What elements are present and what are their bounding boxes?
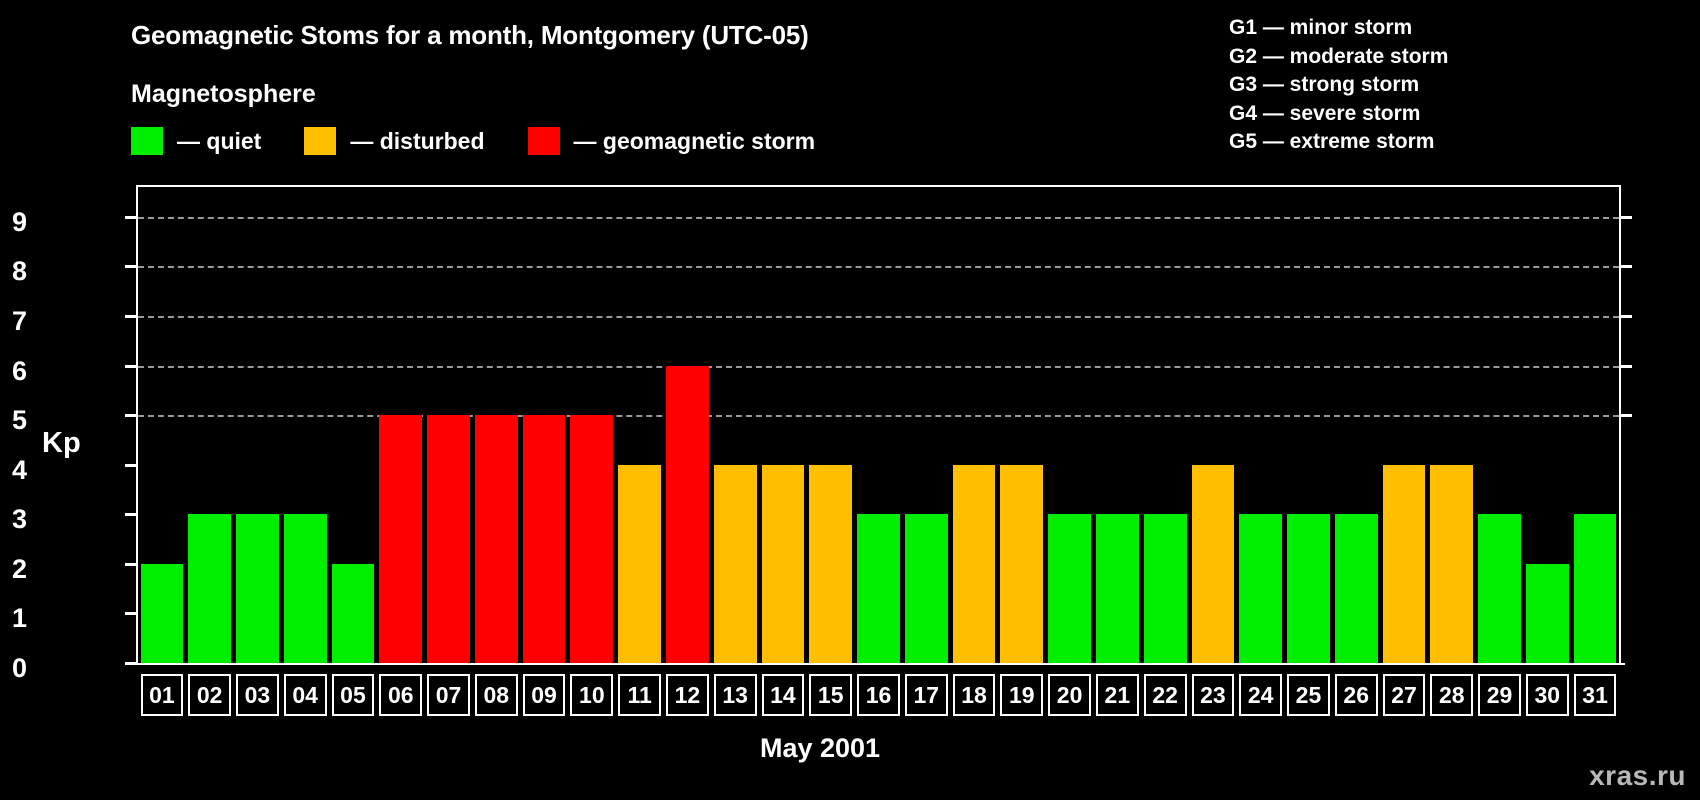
bar-day-13[interactable]: [714, 465, 757, 663]
bar-day-31[interactable]: [1574, 514, 1617, 663]
y-axis-label: Kp: [42, 427, 81, 460]
bar-slot: [1096, 187, 1139, 663]
chart-page: Geomagnetic Stoms for a month, Montgomer…: [0, 0, 1700, 800]
day-label-04: 04: [284, 674, 327, 716]
bar-slot: [1192, 187, 1235, 663]
bar-slot: [809, 187, 852, 663]
g-legend-line-4: G4 — severe storm: [1229, 100, 1448, 129]
day-label-28: 28: [1430, 674, 1473, 716]
bar-slot: [1335, 187, 1378, 663]
day-label-14: 14: [762, 674, 805, 716]
day-label-15: 15: [809, 674, 852, 716]
y-tick-1: [125, 612, 138, 615]
y-tick-label-7: 7: [0, 306, 27, 337]
day-label-21: 21: [1096, 674, 1139, 716]
bar-slot: [1239, 187, 1282, 663]
bar-slot: [1383, 187, 1426, 663]
right-tick-G1: [1619, 414, 1632, 417]
legend-item-storm: — geomagnetic storm: [528, 127, 816, 155]
day-label-31: 31: [1574, 674, 1617, 716]
day-label-16: 16: [857, 674, 900, 716]
day-label-07: 07: [427, 674, 470, 716]
bar-day-19[interactable]: [1000, 465, 1043, 663]
bar-slot: [1478, 187, 1521, 663]
bar-day-27[interactable]: [1383, 465, 1426, 663]
bar-slot: [953, 187, 996, 663]
y-tick-9: [125, 216, 138, 219]
legend-swatch-quiet: [131, 127, 163, 155]
y-tick-label-5: 5: [0, 405, 27, 436]
bar-slot: [1000, 187, 1043, 663]
day-label-22: 22: [1144, 674, 1187, 716]
day-labels-row: 0102030405060708091011121314151617181920…: [138, 674, 1619, 716]
bar-day-01[interactable]: [141, 564, 184, 663]
bar-day-23[interactable]: [1192, 465, 1235, 663]
g-legend-line-1: G1 — minor storm: [1229, 14, 1448, 43]
bar-day-16[interactable]: [857, 514, 900, 663]
day-label-05: 05: [332, 674, 375, 716]
day-label-02: 02: [188, 674, 231, 716]
bar-slot: [236, 187, 279, 663]
x-axis-line: [136, 663, 1625, 665]
bar-day-07[interactable]: [427, 415, 470, 663]
y-tick-2: [125, 563, 138, 566]
day-label-18: 18: [953, 674, 996, 716]
day-label-08: 08: [475, 674, 518, 716]
bar-slot: [523, 187, 566, 663]
day-label-12: 12: [666, 674, 709, 716]
bar-slot: [618, 187, 661, 663]
right-tick-G3: [1619, 315, 1632, 318]
bar-slot: [905, 187, 948, 663]
bar-day-24[interactable]: [1239, 514, 1282, 663]
day-label-30: 30: [1526, 674, 1569, 716]
watermark: xras.ru: [1589, 760, 1686, 792]
bar-slot: [570, 187, 613, 663]
day-label-20: 20: [1048, 674, 1091, 716]
day-label-11: 11: [618, 674, 661, 716]
day-label-09: 09: [523, 674, 566, 716]
bar-day-02[interactable]: [188, 514, 231, 663]
bar-day-28[interactable]: [1430, 465, 1473, 663]
bar-slot: [379, 187, 422, 663]
bar-day-20[interactable]: [1048, 514, 1091, 663]
day-label-29: 29: [1478, 674, 1521, 716]
bar-day-08[interactable]: [475, 415, 518, 663]
bar-slot: [284, 187, 327, 663]
y-tick-6: [125, 365, 138, 368]
bar-day-15[interactable]: [809, 465, 852, 663]
x-axis-label: May 2001: [0, 733, 1700, 764]
bar-slot: [666, 187, 709, 663]
y-tick-label-6: 6: [0, 356, 27, 387]
day-label-13: 13: [714, 674, 757, 716]
bar-slot: [714, 187, 757, 663]
bar-day-04[interactable]: [284, 514, 327, 663]
legend-swatch-storm: [528, 127, 560, 155]
y-tick-5: [125, 414, 138, 417]
g-legend-line-2: G2 — moderate storm: [1229, 43, 1448, 72]
bar-slot: [857, 187, 900, 663]
bar-slot: [762, 187, 805, 663]
page-title: Geomagnetic Stoms for a month, Montgomer…: [131, 20, 809, 51]
bar-day-11[interactable]: [618, 465, 661, 663]
day-label-10: 10: [570, 674, 613, 716]
magnetosphere-legend: — quiet — disturbed — geomagnetic storm: [131, 127, 815, 155]
day-label-03: 03: [236, 674, 279, 716]
bar-slot: [475, 187, 518, 663]
bar-day-25[interactable]: [1287, 514, 1330, 663]
day-label-19: 19: [1000, 674, 1043, 716]
bar-day-18[interactable]: [953, 465, 996, 663]
g-legend-line-5: G5 — extreme storm: [1229, 128, 1448, 157]
day-label-23: 23: [1192, 674, 1235, 716]
day-label-27: 27: [1383, 674, 1426, 716]
bar-day-06[interactable]: [379, 415, 422, 663]
bar-day-26[interactable]: [1335, 514, 1378, 663]
bar-slot: [1287, 187, 1330, 663]
bar-day-30[interactable]: [1526, 564, 1569, 663]
day-label-26: 26: [1335, 674, 1378, 716]
bar-day-05[interactable]: [332, 564, 375, 663]
y-tick-7: [125, 315, 138, 318]
y-tick-8: [125, 265, 138, 268]
bar-slot: [1048, 187, 1091, 663]
y-tick-label-4: 4: [0, 455, 27, 486]
y-tick-label-2: 2: [0, 554, 27, 585]
bar-day-10[interactable]: [570, 415, 613, 663]
bar-slot: [1574, 187, 1617, 663]
x-axis-label-text: May 2001: [760, 733, 880, 764]
g-legend-line-3: G3 — strong storm: [1229, 71, 1448, 100]
bar-slot: [427, 187, 470, 663]
day-label-01: 01: [141, 674, 184, 716]
bar-day-29[interactable]: [1478, 514, 1521, 663]
y-tick-3: [125, 513, 138, 516]
day-label-06: 06: [379, 674, 422, 716]
right-tick-G2: [1619, 365, 1632, 368]
y-tick-label-0: 0: [0, 653, 27, 684]
bar-day-17[interactable]: [905, 514, 948, 663]
legend-label-disturbed: — disturbed: [350, 128, 484, 155]
bars-layer: [138, 187, 1619, 663]
legend-item-disturbed: — disturbed: [304, 127, 527, 155]
bar-slot: [332, 187, 375, 663]
bar-slot: [188, 187, 231, 663]
y-tick-label-1: 1: [0, 603, 27, 634]
right-tick-G5: [1619, 216, 1632, 219]
day-label-25: 25: [1287, 674, 1330, 716]
bar-day-14[interactable]: [762, 465, 805, 663]
bar-day-21[interactable]: [1096, 514, 1139, 663]
day-label-24: 24: [1239, 674, 1282, 716]
bar-slot: [1526, 187, 1569, 663]
y-tick-label-3: 3: [0, 504, 27, 535]
right-tick-G4: [1619, 265, 1632, 268]
bar-day-03[interactable]: [236, 514, 279, 663]
bar-slot: [141, 187, 184, 663]
bar-slot: [1430, 187, 1473, 663]
bar-day-09[interactable]: [523, 415, 566, 663]
legend-item-quiet: — quiet: [131, 127, 304, 155]
y-tick-label-8: 8: [0, 256, 27, 287]
bar-day-12[interactable]: [666, 366, 709, 664]
legend-heading: Magnetosphere: [131, 80, 316, 109]
legend-swatch-disturbed: [304, 127, 336, 155]
bar-slot: [1144, 187, 1187, 663]
y-tick-label-9: 9: [0, 207, 27, 238]
legend-label-storm: — geomagnetic storm: [574, 128, 816, 155]
g-scale-legend: G1 — minor stormG2 — moderate stormG3 — …: [1229, 14, 1448, 157]
day-label-17: 17: [905, 674, 948, 716]
legend-label-quiet: — quiet: [177, 128, 261, 155]
bar-day-22[interactable]: [1144, 514, 1187, 663]
y-tick-4: [125, 464, 138, 467]
